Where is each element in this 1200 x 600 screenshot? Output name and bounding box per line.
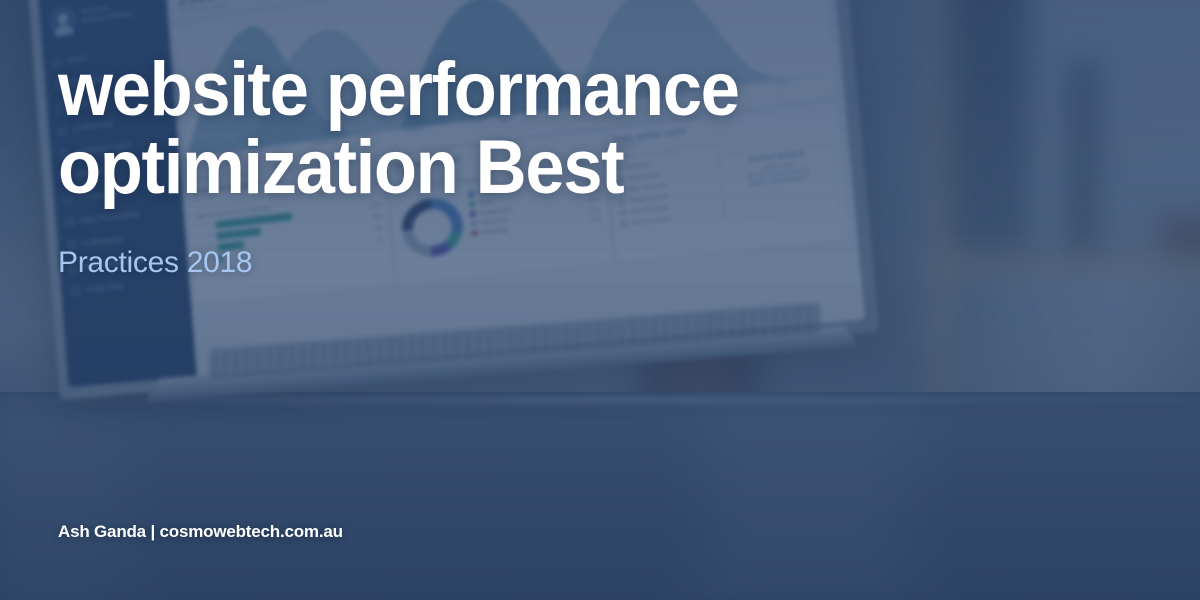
blog-banner: Logo Welcome, Anthony Mullays Home Dashb… [0,0,1200,600]
page-subtitle: Practices 2018 [58,246,858,280]
page-title: website performance optimization Best [58,54,802,204]
headline-block: website performance optimization Best Pr… [58,54,858,280]
headline-line-2: optimization Best [58,132,802,204]
headline-line-1: website performance [58,47,739,132]
author-byline: Ash Ganda | cosmowebtech.com.au [58,522,343,542]
